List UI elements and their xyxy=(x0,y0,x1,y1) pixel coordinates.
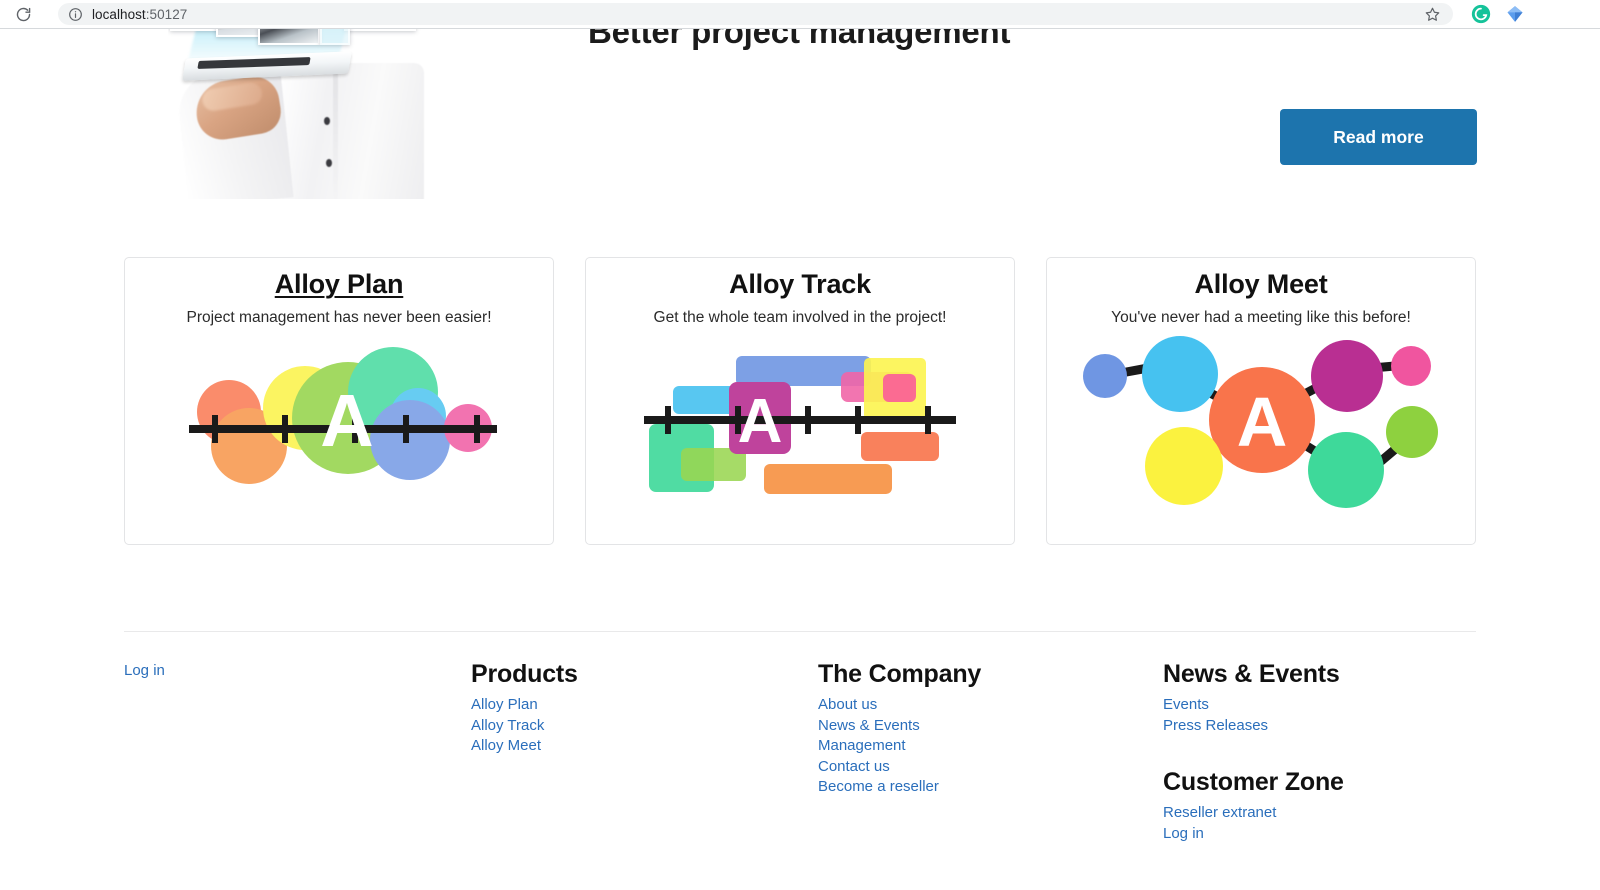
card-title-alloy-track[interactable]: Alloy Track xyxy=(729,269,871,300)
footer-link-alloy-meet[interactable]: Alloy Meet xyxy=(471,736,578,757)
grammarly-icon[interactable] xyxy=(1471,4,1491,24)
footer-link-press-releases[interactable]: Press Releases xyxy=(1163,716,1340,737)
address-bar[interactable]: localhost:50127 xyxy=(58,3,1453,25)
footer-heading-customer-zone: Customer Zone xyxy=(1163,768,1344,797)
footer-link-management[interactable]: Management xyxy=(818,736,981,757)
photo-thumbnail xyxy=(258,29,320,45)
logo-letter: A xyxy=(320,379,373,462)
node-green xyxy=(1386,406,1438,458)
card-subtitle-alloy-plan: Project management has never been easier… xyxy=(186,309,491,327)
logo-letter: A xyxy=(738,387,783,456)
alloy-track-logo: A xyxy=(586,336,1016,516)
footer-link-about-us[interactable]: About us xyxy=(818,695,981,716)
site-footer: Log in Products Alloy Plan Alloy Track A… xyxy=(0,631,1600,890)
photo-button-dot xyxy=(324,117,330,125)
diamond-extension-icon[interactable] xyxy=(1505,4,1525,24)
footer-heading-products: Products xyxy=(471,660,578,689)
footer-heading-news: News & Events xyxy=(1163,660,1340,689)
hero-section: Better project management Read more xyxy=(0,29,1600,225)
footer-login-link[interactable]: Log in xyxy=(124,661,165,682)
node-yellow xyxy=(1145,427,1223,505)
product-card-alloy-track[interactable]: Alloy Track Get the whole team involved … xyxy=(585,257,1015,545)
footer-column-products: Products Alloy Plan Alloy Track Alloy Me… xyxy=(471,660,578,757)
read-more-button[interactable]: Read more xyxy=(1280,109,1477,165)
alloy-plan-logo: A xyxy=(125,336,555,516)
card-subtitle-alloy-track: Get the whole team involved in the proje… xyxy=(654,309,947,327)
node-magenta xyxy=(1311,340,1383,412)
footer-link-events[interactable]: Events xyxy=(1163,695,1340,716)
browser-toolbar: localhost:50127 xyxy=(0,0,1600,29)
product-card-alloy-plan[interactable]: Alloy Plan Project management has never … xyxy=(124,257,554,545)
product-cards: Alloy Plan Project management has never … xyxy=(124,257,1476,545)
bookmark-star-icon[interactable] xyxy=(1424,6,1441,23)
footer-column-customer-zone: Customer Zone Reseller extranet Log in xyxy=(1163,768,1344,844)
footer-link-become-a-reseller[interactable]: Become a reseller xyxy=(818,777,981,798)
photo-thumbnail-glass xyxy=(320,29,350,45)
info-circle-icon[interactable] xyxy=(68,7,83,22)
extension-icons xyxy=(1453,4,1539,24)
node-pink xyxy=(1391,346,1431,386)
url-port: :50127 xyxy=(146,7,188,22)
footer-link-contact-us[interactable]: Contact us xyxy=(818,757,981,778)
card-subtitle-alloy-meet: You've never had a meeting like this bef… xyxy=(1111,309,1411,327)
hero-photo xyxy=(168,29,488,199)
footer-link-reseller-extranet[interactable]: Reseller extranet xyxy=(1163,803,1344,824)
reload-button[interactable] xyxy=(8,0,38,29)
footer-column-news: News & Events Events Press Releases xyxy=(1163,660,1340,736)
url-text: localhost:50127 xyxy=(92,7,187,22)
footer-column-company: The Company About us News & Events Manag… xyxy=(818,660,981,798)
product-card-alloy-meet[interactable]: Alloy Meet You've never had a meeting li… xyxy=(1046,257,1476,545)
card-title-alloy-plan[interactable]: Alloy Plan xyxy=(275,269,404,300)
logo-letter: A xyxy=(1237,383,1288,461)
footer-heading-company: The Company xyxy=(818,660,981,689)
node-blue xyxy=(1083,354,1127,398)
card-title-alloy-meet[interactable]: Alloy Meet xyxy=(1194,269,1327,300)
page-title: Better project management xyxy=(588,29,1010,51)
footer-link-news-and-events[interactable]: News & Events xyxy=(818,716,981,737)
footer-link-alloy-plan[interactable]: Alloy Plan xyxy=(471,695,578,716)
alloy-meet-logo: A xyxy=(1047,336,1477,516)
photo-thumbnail xyxy=(344,29,416,31)
photo-button-dot xyxy=(326,159,332,167)
url-host: localhost xyxy=(92,7,146,22)
node-teal xyxy=(1142,336,1218,412)
footer-link-alloy-track[interactable]: Alloy Track xyxy=(471,716,578,737)
footer-link-customer-login[interactable]: Log in xyxy=(1163,824,1344,845)
node-mint xyxy=(1308,432,1384,508)
page-viewport: Better project management Read more Allo… xyxy=(0,29,1600,890)
